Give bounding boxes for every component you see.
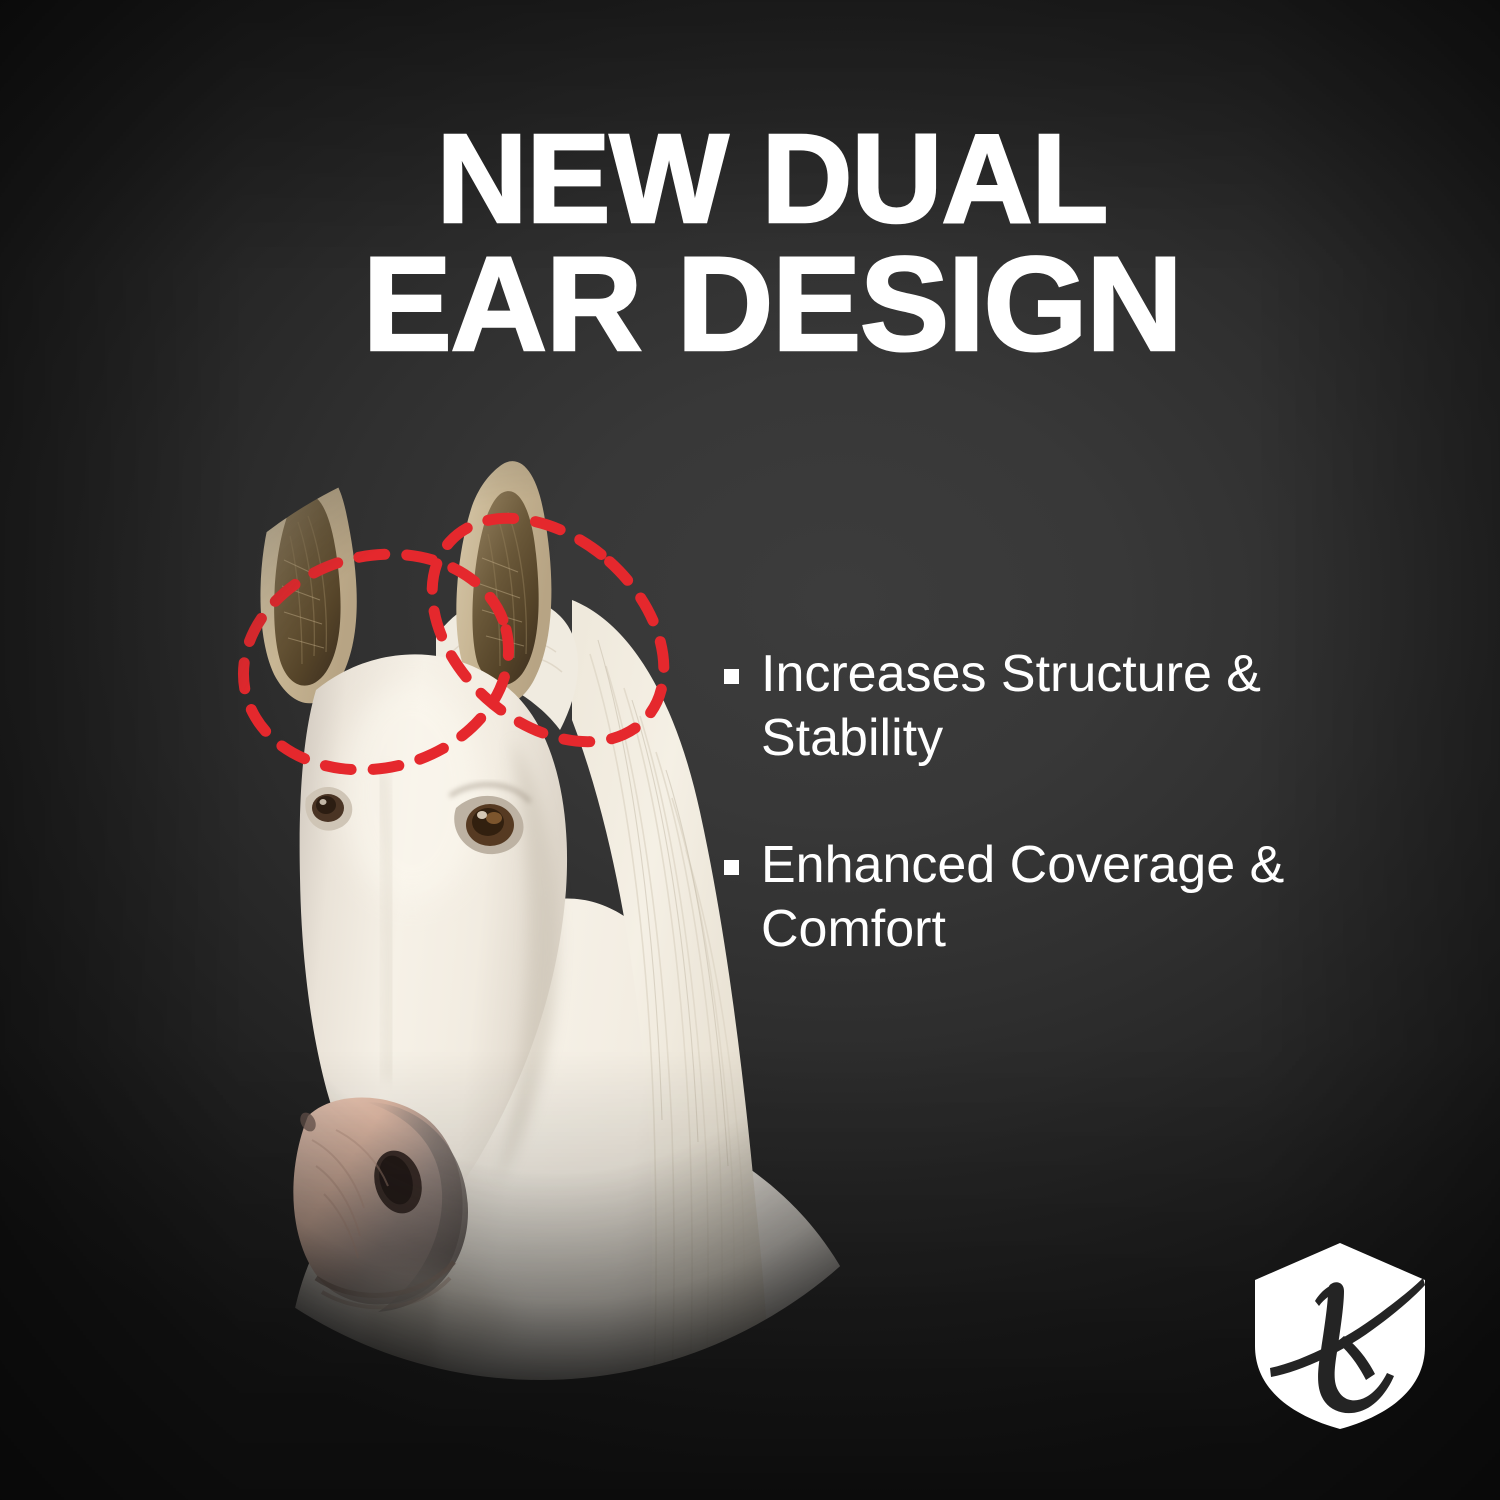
brand-logo <box>1247 1240 1433 1432</box>
feature-text: Increases Structure & Stability <box>761 642 1391 771</box>
square-bullet-icon <box>724 860 739 875</box>
feature-text: Enhanced Coverage & Comfort <box>761 833 1391 962</box>
square-bullet-icon <box>724 669 739 684</box>
headline-line-1: NEW DUAL <box>282 118 1262 240</box>
headline-line-2: EAR DESIGN <box>282 240 1262 370</box>
page-title: NEW DUAL EAR DESIGN <box>282 118 1262 370</box>
list-item: Enhanced Coverage & Comfort <box>724 833 1424 962</box>
promo-banner: NEW DUAL EAR DESIGN Increases Structure … <box>0 0 1500 1500</box>
list-item: Increases Structure & Stability <box>724 642 1424 771</box>
feature-list: Increases Structure & Stability Enhanced… <box>724 642 1424 1024</box>
